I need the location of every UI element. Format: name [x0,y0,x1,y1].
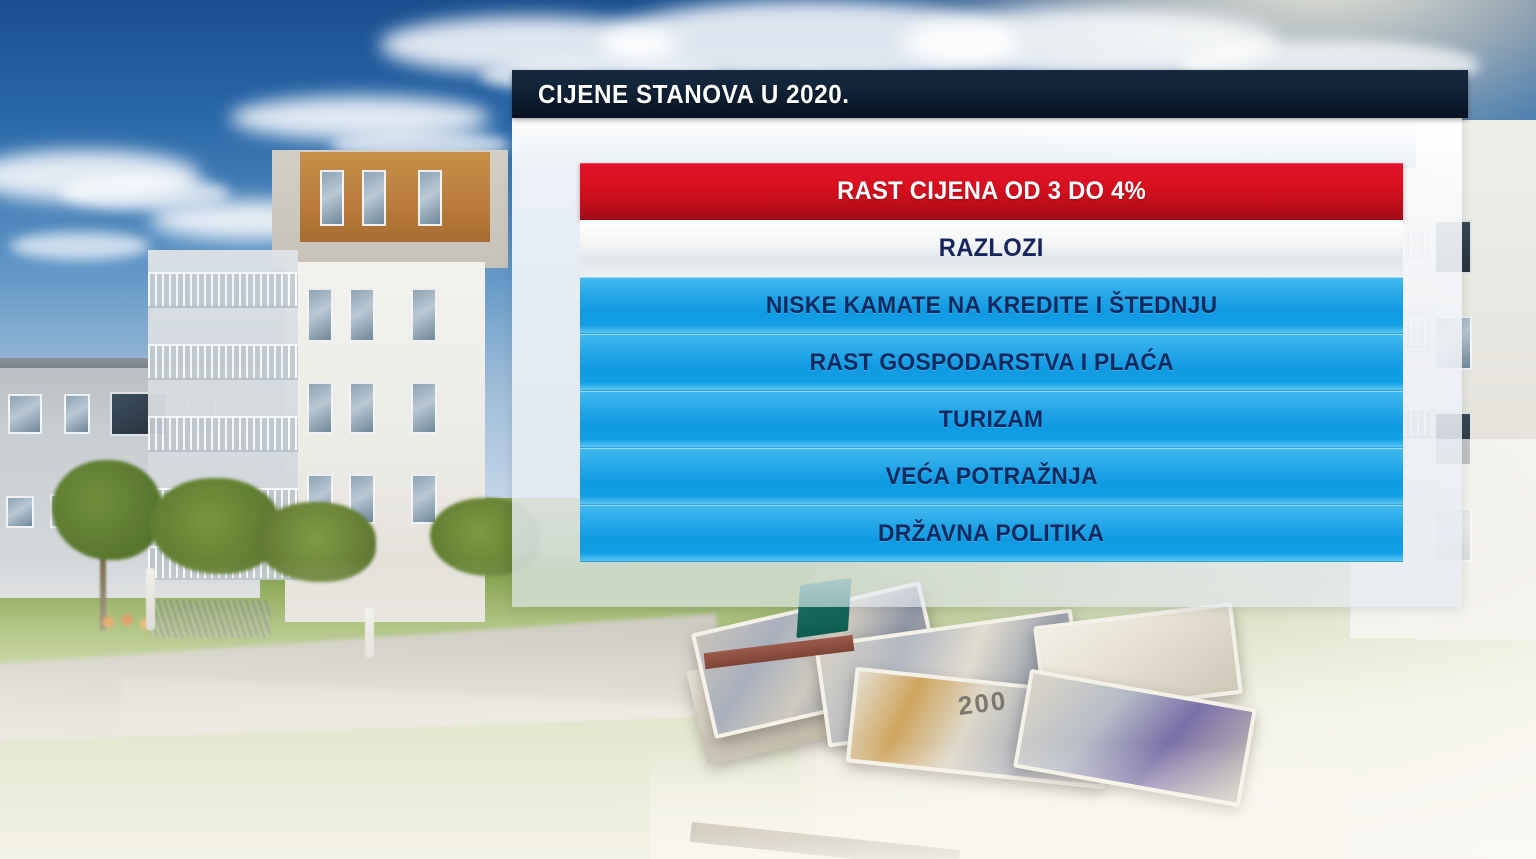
subheading-label: RAZLOZI [939,234,1044,263]
window [64,394,90,434]
list-item: TURIZAM [580,391,1403,448]
balcony-railing [148,272,298,308]
window [8,394,42,434]
balcony-railing [148,416,298,452]
window [411,382,437,434]
window [349,288,375,342]
banknote-bundles-graphic: 200 [690,592,1310,842]
list-item: NISKE KAMATE NA KREDITE I ŠTEDNJU [580,277,1403,334]
window [362,170,386,226]
building-wood-cladding [300,152,490,242]
banknote-bundle-edge [690,822,961,859]
panel-header-bar: CIJENE STANOVA U 2020. [512,70,1468,118]
tree [52,460,162,560]
list-item-label: NISKE KAMATE NA KREDITE I ŠTEDNJU [766,292,1218,320]
window [307,382,333,434]
window [320,170,344,226]
page-title: CIJENE STANOVA U 2020. [538,79,849,110]
list-item: VEĆA POTRAŽNJA [580,448,1403,505]
balcony-railing [148,344,298,380]
broadcast-graphic-panel: CIJENE STANOVA U 2020. RAST CIJENA OD 3 … [512,70,1462,607]
list-item-label: TURIZAM [939,406,1044,434]
window [349,382,375,434]
list-item-label: VEĆA POTRAŽNJA [885,463,1097,491]
headline-banner-label: RAST CIJENA OD 3 DO 4% [837,177,1146,206]
list-item-label: RAST GOSPODARSTVA I PLAĆA [809,349,1173,377]
window [411,288,437,342]
headline-banner: RAST CIJENA OD 3 DO 4% [580,163,1403,220]
window [6,496,34,528]
graphic-rows-list: RAST CIJENA OD 3 DO 4% RAZLOZI NISKE KAM… [580,163,1403,562]
subheading-row: RAZLOZI [580,220,1403,277]
list-item: RAST GOSPODARSTVA I PLAĆA [580,334,1403,391]
window [411,474,437,524]
window [418,170,442,226]
window [307,288,333,342]
banknote-denomination: 200 [956,685,1009,722]
cloud [10,232,150,260]
list-item: DRŽAVNA POLITIKA [580,505,1403,562]
list-item-label: DRŽAVNA POLITIKA [878,520,1104,548]
